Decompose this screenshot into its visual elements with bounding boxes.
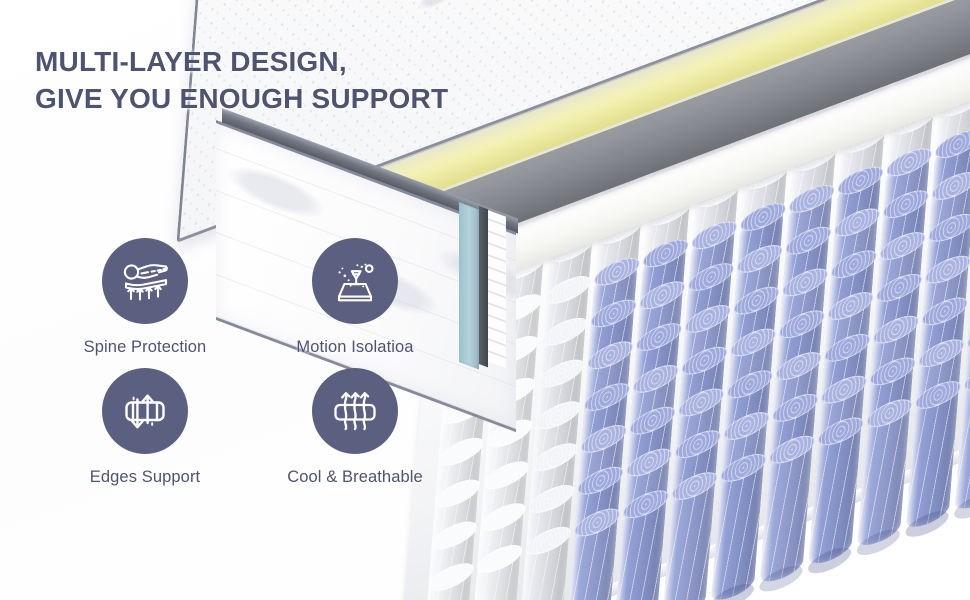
spine-protection-icon-circle	[102, 238, 188, 324]
wine-glass-on-mattress-icon	[327, 253, 383, 309]
feature-list: Spine Protection	[40, 238, 460, 498]
pocketed-coil	[565, 514, 618, 600]
motion-isolation-icon-circle	[312, 238, 398, 324]
pocketed-coil	[711, 459, 764, 600]
edges-support-icon-circle	[102, 368, 188, 454]
pocketed-coil	[857, 404, 910, 550]
pocketed-coil	[467, 550, 520, 600]
feature-edges-support: Edges Support	[40, 368, 250, 498]
pocketed-coil	[516, 532, 569, 600]
cut-edge-panel	[459, 202, 479, 369]
cut-edge-coil-strip	[488, 210, 506, 369]
cool-breathable-icon-circle	[312, 368, 398, 454]
pocketed-coil	[662, 477, 715, 600]
feature-label: Spine Protection	[40, 338, 250, 357]
marketing-banner: MULTI-LAYER DESIGN, GIVE YOU ENOUGH SUPP…	[0, 0, 970, 600]
feature-cool-breathable: Cool & Breathable	[250, 368, 460, 498]
feature-motion-isolation: Motion Isolatioa	[250, 238, 460, 368]
pocketed-coil	[613, 495, 666, 600]
feature-spine-protection: Spine Protection	[40, 238, 250, 368]
feature-label: Edges Support	[40, 468, 250, 487]
feature-label: Cool & Breathable	[250, 468, 460, 487]
person-on-mattress-arrows-icon	[117, 253, 173, 309]
pocketed-coil	[906, 386, 959, 532]
headline-line-2: GIVE YOU ENOUGH SUPPORT	[35, 81, 448, 118]
pocketed-coil	[808, 423, 861, 569]
headline: MULTI-LAYER DESIGN, GIVE YOU ENOUGH SUPP…	[35, 44, 448, 118]
pocketed-coil	[759, 441, 812, 587]
feature-label: Motion Isolatioa	[250, 338, 460, 357]
four-direction-arrows-icon	[117, 383, 173, 439]
headline-line-1: MULTI-LAYER DESIGN,	[35, 44, 448, 81]
cut-edge-dark-strip	[479, 206, 488, 367]
airflow-arrows-mattress-icon	[327, 383, 383, 439]
